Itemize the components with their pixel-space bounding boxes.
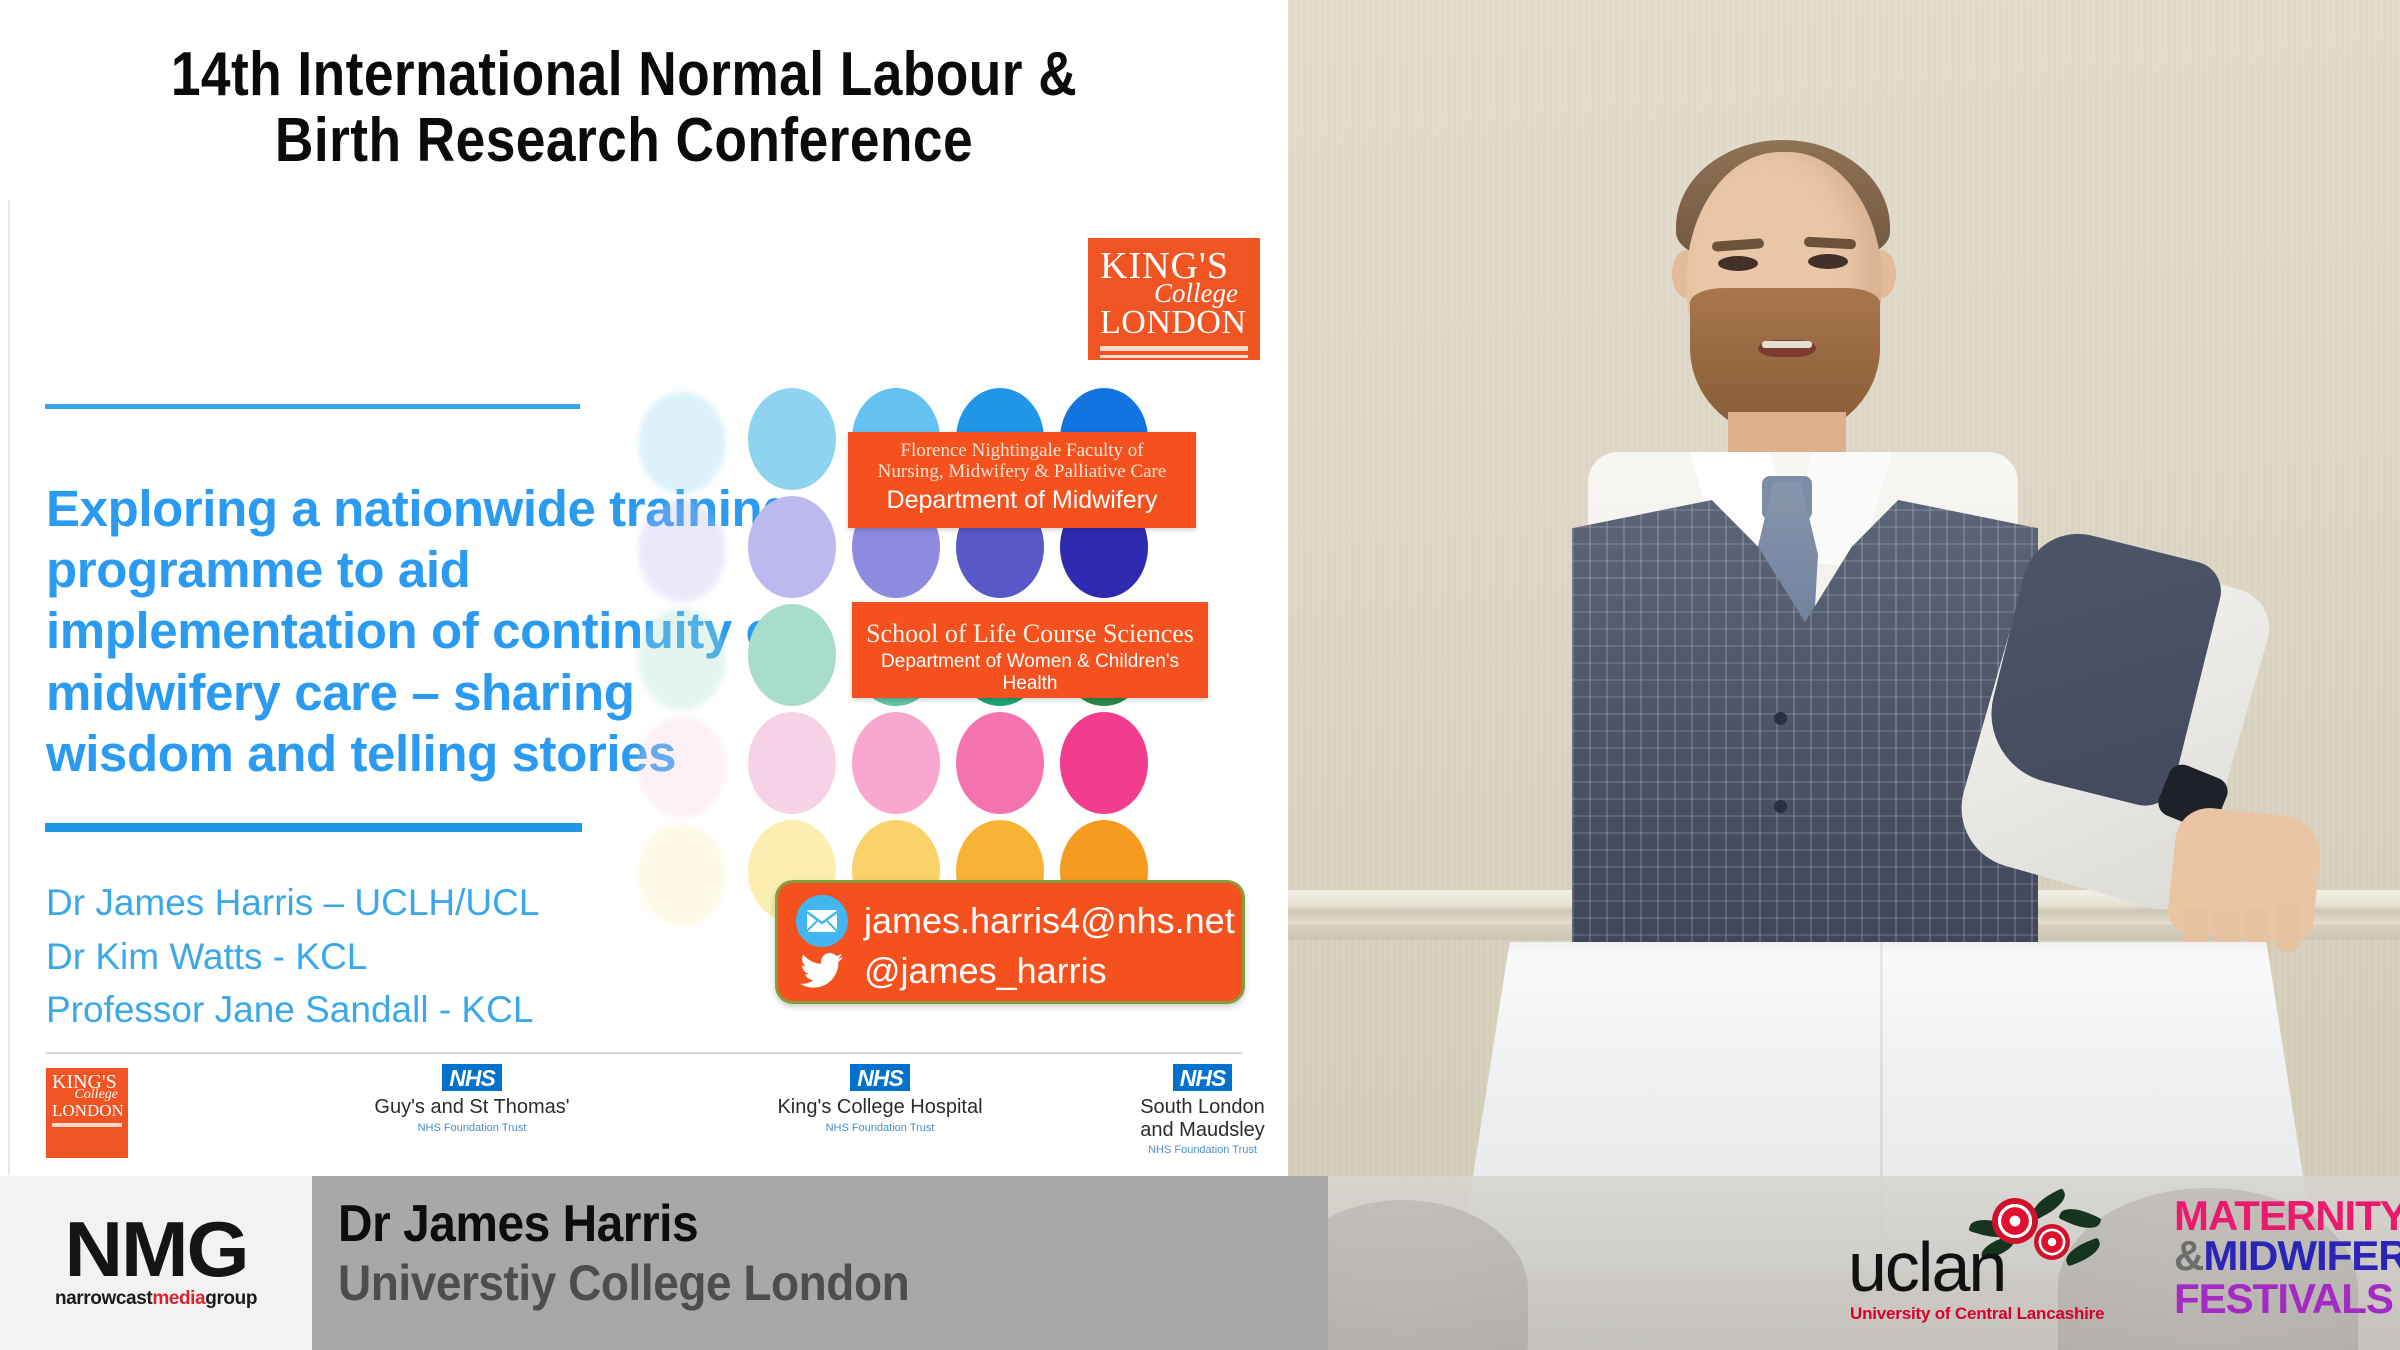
dot-grid-ghost-dot (638, 392, 726, 494)
kcl-logo-rule (1100, 346, 1248, 351)
twitter-bird-icon (796, 945, 848, 997)
sponsor-logo-bar: uclan University of Central Lancashire M… (1328, 1176, 2400, 1350)
festival-line-midwifery: &MIDWIFERY (2174, 1236, 2400, 1276)
dot-grid-ghost-dot (638, 716, 726, 818)
speaker-eye-right (1808, 254, 1848, 269)
nhs-trust-logo-kings-college-hospital: NHS King's College Hospital NHS Foundati… (760, 1064, 1000, 1134)
dot-grid-dot (748, 388, 836, 490)
faculty-banner-line2: Nursing, Midwifery & Palliative Care (848, 461, 1196, 482)
lower-third-banner: NMG narrowcastmediagroup Dr James Harris… (0, 1176, 2400, 1350)
festival-ampersand: & (2174, 1232, 2203, 1279)
kcl-logo-rule2 (1100, 355, 1248, 358)
dot-grid-dot (748, 604, 836, 706)
footer-logo-strip: KING'S College LONDON NHS Guy's and St T… (0, 1064, 1288, 1164)
kcl-logo-london: LONDON (1100, 306, 1248, 340)
contact-twitter-handle[interactable]: @james_harris (864, 950, 1107, 992)
dot-grid-ghost-dot (638, 824, 726, 926)
conference-header: 14th International Normal Labour & Birth… (0, 0, 1288, 200)
festival-line-festivals: FESTIVALS (2174, 1279, 2400, 1319)
faculty-banner-line3: Department of Midwifery (848, 485, 1196, 515)
conference-title-line1: 14th International Normal Labour & (87, 42, 1160, 108)
speaker-name-bar: Dr James Harris Universtiy College Londo… (312, 1176, 1328, 1350)
kcl-small-rule (52, 1123, 122, 1127)
red-rose-icon (2034, 1224, 2070, 1260)
dot-grid-dot (956, 712, 1044, 814)
envelope-icon (796, 895, 848, 947)
nmg-logo[interactable]: NMG narrowcastmediagroup (0, 1176, 312, 1350)
school-banner-line1: School of Life Course Sciences (852, 620, 1208, 649)
dot-grid-ghost-dot (638, 608, 726, 710)
contact-box[interactable]: james.harris4@nhs.net @james_harris (775, 880, 1245, 1004)
maternity-midwifery-festivals-logo[interactable]: MATERNITY &MIDWIFERY FESTIVALS (2174, 1196, 2400, 1319)
nhs-trust-sub: NHS Foundation Trust (1120, 1144, 1285, 1156)
nhs-trust-logo-guys-st-thomas: NHS Guy's and St Thomas' NHS Foundation … (352, 1064, 592, 1134)
festival-midwifery-word: MIDWIFERY (2203, 1232, 2400, 1279)
dot-grid-dot (1060, 712, 1148, 814)
contact-email[interactable]: james.harris4@nhs.net (864, 900, 1235, 942)
kcl-small-london: LONDON (52, 1102, 122, 1119)
nhs-trust-logo-south-london-maudsley: NHS South London and Maudsley NHS Founda… (1120, 1064, 1285, 1156)
accent-rule-top (45, 404, 580, 409)
slide-pane[interactable]: 14th International Normal Labour & Birth… (0, 0, 1288, 1175)
faculty-banner: Florence Nightingale Faculty of Nursing,… (848, 432, 1196, 528)
waistcoat-button-lower (1774, 800, 1787, 813)
uclan-logo[interactable]: uclan University of Central Lancashire (1848, 1192, 2118, 1334)
speaker-eye-left (1718, 256, 1758, 271)
dot-grid-dot (748, 496, 836, 598)
school-banner-line2: Department of Women & Children's Health (852, 651, 1208, 697)
author-list: Dr James Harris – UCLH/UCL Dr Kim Watts … (46, 876, 746, 1037)
dot-grid-dot (852, 712, 940, 814)
speaker-organisation: Universtiy College London (338, 1254, 909, 1312)
nmg-initials: NMG (64, 1216, 247, 1283)
waistcoat-button-upper (1774, 712, 1787, 725)
nhs-trust-sub: NHS Foundation Trust (760, 1122, 1000, 1134)
uclan-full-name: University of Central Lancashire (1850, 1304, 2104, 1324)
nhs-trust-name: South London and Maudsley (1120, 1096, 1285, 1141)
festival-line-maternity: MATERNITY (2174, 1196, 2400, 1236)
author-item: Professor Jane Sandall - KCL (46, 983, 746, 1037)
accent-rule-bottom (45, 823, 582, 832)
nhs-trust-name: Guy's and St Thomas' (352, 1096, 592, 1118)
faculty-banner-line1: Florence Nightingale Faculty of (848, 440, 1196, 461)
nhs-logo: NHS (850, 1064, 910, 1091)
conference-title: 14th International Normal Labour & Birth… (87, 42, 1160, 173)
speaker-video-pane[interactable] (1288, 0, 2400, 1350)
presentation-screen: 14th International Normal Labour & Birth… (0, 0, 2400, 1350)
nhs-trust-sub: NHS Foundation Trust (352, 1122, 592, 1134)
speaker-teeth (1762, 341, 1812, 348)
author-item: Dr Kim Watts - KCL (46, 930, 746, 984)
kings-college-london-logo-small: KING'S College LONDON (46, 1068, 128, 1158)
speaker-name: Dr James Harris (338, 1194, 698, 1254)
nhs-logo: NHS (1173, 1064, 1233, 1091)
conference-title-line2: Birth Research Conference (87, 108, 1160, 174)
kings-college-london-logo: KING'S College LONDON (1088, 238, 1260, 360)
speaker-finger (2276, 904, 2299, 952)
dot-grid-dot (748, 712, 836, 814)
school-banner: School of Life Course Sciences Departmen… (852, 602, 1208, 698)
nhs-logo: NHS (442, 1064, 502, 1091)
dot-grid-ghost-dot (638, 500, 726, 602)
footer-divider (46, 1052, 1242, 1054)
nhs-trust-name: King's College Hospital (760, 1096, 1000, 1118)
uclan-wordmark: uclan (1848, 1232, 2005, 1302)
contact-email-row[interactable]: james.harris4@nhs.net (796, 895, 1235, 947)
contact-twitter-row[interactable]: @james_harris (796, 945, 1107, 997)
